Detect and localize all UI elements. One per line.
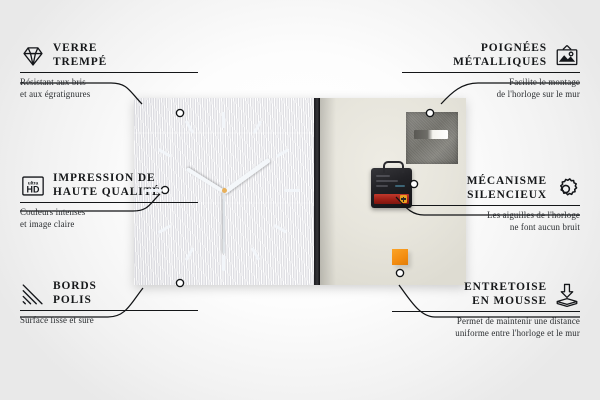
feature-caption: Résistant aux bris (20, 77, 198, 88)
feature-caption: Surface lisse et sûre (20, 315, 198, 326)
clock-second-hand (223, 192, 225, 254)
feature-caption: uniforme entre l'horloge et le mur (392, 328, 580, 339)
feature-caption: Les aiguilles de l'horloge (402, 210, 580, 221)
feature-caption: de l'horloge sur le mur (402, 89, 580, 100)
divider (20, 310, 198, 311)
feature-title: MÉCANISME (467, 175, 547, 189)
ultra-hd-icon: ultra HD (20, 173, 46, 199)
feature-caption: et aux égratignures (20, 89, 198, 100)
divider (20, 72, 198, 73)
feature-title: SILENCIEUX (467, 189, 547, 203)
feature-title: MÉTALLIQUES (453, 56, 547, 70)
hanger-slot (414, 130, 448, 139)
feature-title: POLIS (53, 294, 97, 308)
infographic-canvas: VERRE TREMPÉ Résistant aux bris et aux é… (0, 0, 600, 400)
feature-impression-haute-qualite: ultra HD IMPRESSION DE HAUTE QUALITÉ Cou… (20, 172, 198, 230)
feature-caption: et image claire (20, 219, 198, 230)
divider (20, 202, 198, 203)
clock-center-cap (222, 188, 227, 193)
feature-title: VERRE (53, 42, 107, 56)
clock-tick (222, 112, 225, 128)
feature-verre-trempe: VERRE TREMPÉ Résistant aux bris et aux é… (20, 42, 198, 100)
gear-icon (554, 176, 580, 202)
feature-entretoise-en-mousse: ENTRETOISE EN MOUSSE Permet de maintenir… (392, 281, 580, 339)
feature-title: BORDS (53, 280, 97, 294)
movement-hook (383, 161, 404, 173)
clock-tick (222, 255, 225, 271)
diamond-icon (20, 43, 46, 69)
polished-edge-icon (20, 281, 46, 307)
metal-hanger-plate (406, 112, 458, 164)
feature-poignees-metalliques: POIGNÉES MÉTALLIQUES Facilite le montage… (402, 42, 580, 100)
feature-title: ENTRETOISE (464, 281, 547, 295)
feature-bords-polis: BORDS POLIS Surface lisse et sûre (20, 280, 198, 327)
foam-spacer-icon (554, 282, 580, 308)
divider (402, 72, 580, 73)
feature-caption: Permet de maintenir une distance (392, 316, 580, 327)
foam-spacer-piece (392, 249, 408, 265)
feature-title: IMPRESSION DE (53, 172, 161, 186)
divider (392, 311, 580, 312)
feature-title: EN MOUSSE (464, 295, 547, 309)
svg-text:HD: HD (27, 184, 40, 194)
feature-caption: Facilite le montage (402, 77, 580, 88)
panel-shadow (320, 98, 336, 285)
clock-tick (146, 189, 162, 192)
feature-caption: ne font aucun bruit (402, 222, 580, 233)
feature-title: TREMPÉ (53, 56, 107, 70)
picture-hanger-icon (554, 43, 580, 69)
feature-mecanisme-silencieux: MÉCANISME SILENCIEUX Les aiguilles de l'… (402, 175, 580, 233)
feature-title: POIGNÉES (453, 42, 547, 56)
feature-title: HAUTE QUALITÉ (53, 186, 161, 200)
divider (402, 205, 580, 206)
clock-tick (284, 189, 300, 192)
movement-detail (376, 180, 398, 182)
feature-caption: Couleurs intenses (20, 207, 198, 218)
movement-detail (376, 175, 390, 177)
movement-detail (376, 185, 388, 187)
